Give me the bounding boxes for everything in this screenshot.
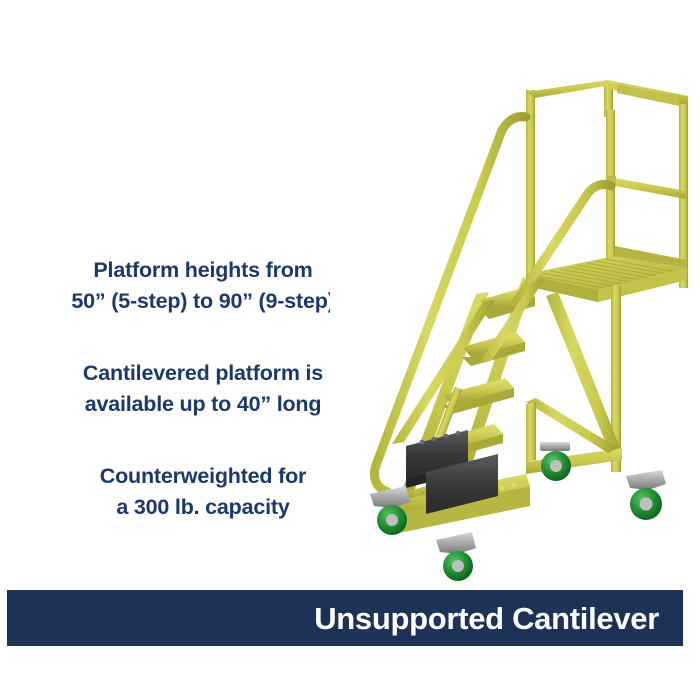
product-image: [330, 10, 700, 590]
banner-title: Unsupported Cantilever: [314, 603, 659, 634]
page-root: Platform heights from 50” (5-step) to 90…: [0, 0, 700, 700]
bottom-banner: Unsupported Cantilever: [7, 590, 683, 646]
ladder-illustration: [330, 10, 700, 590]
caster-rear-left: [540, 442, 571, 481]
